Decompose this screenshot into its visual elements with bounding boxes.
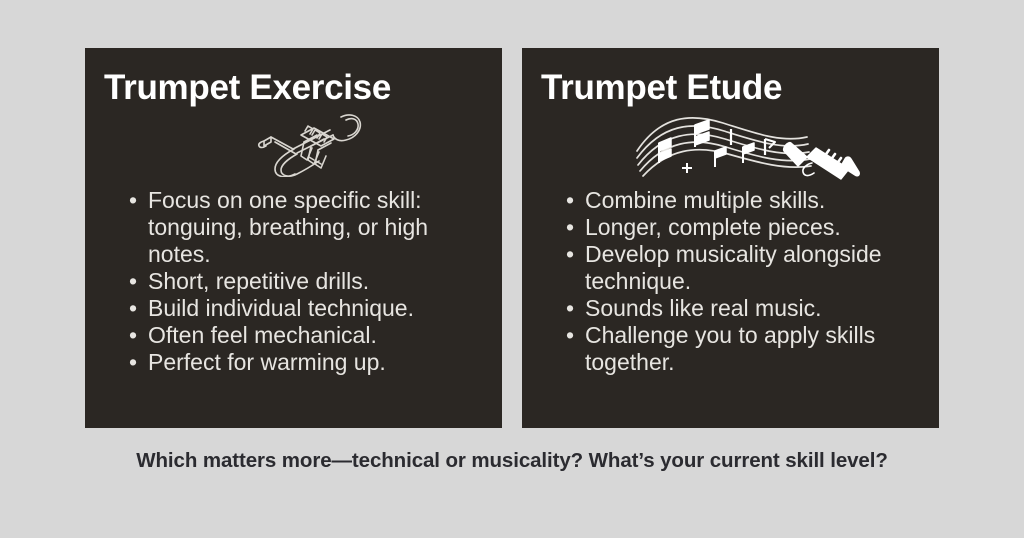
card-trumpet-etude: Trumpet Etude <box>522 48 939 428</box>
trumpet-outline-icon <box>103 107 484 181</box>
list-item: Develop musicality alongside technique. <box>566 241 917 295</box>
list-item: Challenge you to apply skills together. <box>566 322 917 376</box>
card-title-left: Trumpet Exercise <box>103 70 484 107</box>
bullet-list-left: Focus on one specific skill: tonguing, b… <box>103 187 484 376</box>
list-item: Perfect for warming up. <box>129 349 480 376</box>
card-title-right: Trumpet Etude <box>540 70 921 107</box>
list-item: Short, repetitive drills. <box>129 268 480 295</box>
slide-canvas: Trumpet Exercise <box>0 0 1024 538</box>
list-item: Often feel mechanical. <box>129 322 480 349</box>
list-item: Longer, complete pieces. <box>566 214 917 241</box>
list-item: Sounds like real music. <box>566 295 917 322</box>
slide-caption: Which matters more—technical or musicali… <box>0 449 1024 473</box>
trumpet-with-music-staff-icon <box>540 107 921 181</box>
list-item: Combine multiple skills. <box>566 187 917 214</box>
comparison-cards-row: Trumpet Exercise <box>85 48 940 428</box>
list-item: Focus on one specific skill: tonguing, b… <box>129 187 480 268</box>
card-trumpet-exercise: Trumpet Exercise <box>85 48 502 428</box>
list-item: Build individual technique. <box>129 295 480 322</box>
bullet-list-right: Combine multiple skills. Longer, complet… <box>540 187 921 376</box>
